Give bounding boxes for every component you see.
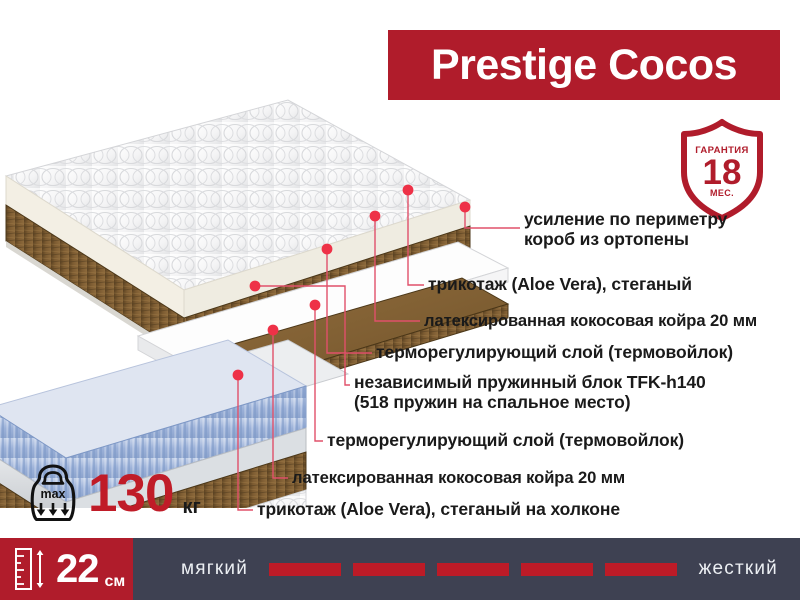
label-felt-top: терморегулирующий слой (термовойлок) (376, 343, 733, 363)
svg-text:max: max (40, 487, 65, 501)
max-weight-unit: кг (182, 496, 200, 519)
height-unit: см (105, 573, 126, 591)
firmness-segments (262, 563, 685, 576)
bottom-bar: 22 см мягкий жесткий (0, 538, 800, 600)
label-coir-top: латексированная кокосовая койра 20 мм (424, 312, 757, 331)
ruler-icon (14, 547, 48, 591)
height-value: 22 (56, 549, 99, 589)
firmness-segment (353, 563, 425, 576)
label-coir-bottom: латексированная кокосовая койра 20 мм (292, 469, 625, 488)
page-title: Prestige Cocos (431, 44, 737, 87)
firmness-soft-label: мягкий (181, 558, 248, 580)
shield-icon (676, 118, 768, 222)
max-weight-value: 130 (88, 467, 173, 520)
label-perimeter: усиление по периметру короб из ортопены (524, 210, 727, 250)
label-felt-bottom: терморегулирующий слой (термовойлок) (327, 431, 684, 451)
firmness-segment (437, 563, 509, 576)
height-block: 22 см (0, 538, 133, 600)
firmness-segment (605, 563, 677, 576)
max-weight-block: max 130 кг (30, 460, 201, 526)
kettlebell-icon: max (30, 463, 76, 523)
firmness-scale: мягкий жесткий (133, 538, 800, 600)
label-knit-top: трикотаж (Aloe Vera), стеганый (428, 275, 692, 295)
firmness-segment (269, 563, 341, 576)
product-infographic: Prestige Cocos ГАРАНТИЯ 18 МЕС. усиление… (0, 0, 800, 600)
label-spring-block: независимый пружинный блок TFK-h140 (518… (354, 373, 706, 413)
firmness-hard-label: жесткий (699, 558, 778, 580)
firmness-segment (521, 563, 593, 576)
product-title-banner: Prestige Cocos (388, 30, 780, 100)
label-knit-bottom: трикотаж (Aloe Vera), стеганый на холкон… (257, 500, 620, 520)
warranty-badge: ГАРАНТИЯ 18 МЕС. (676, 118, 768, 222)
